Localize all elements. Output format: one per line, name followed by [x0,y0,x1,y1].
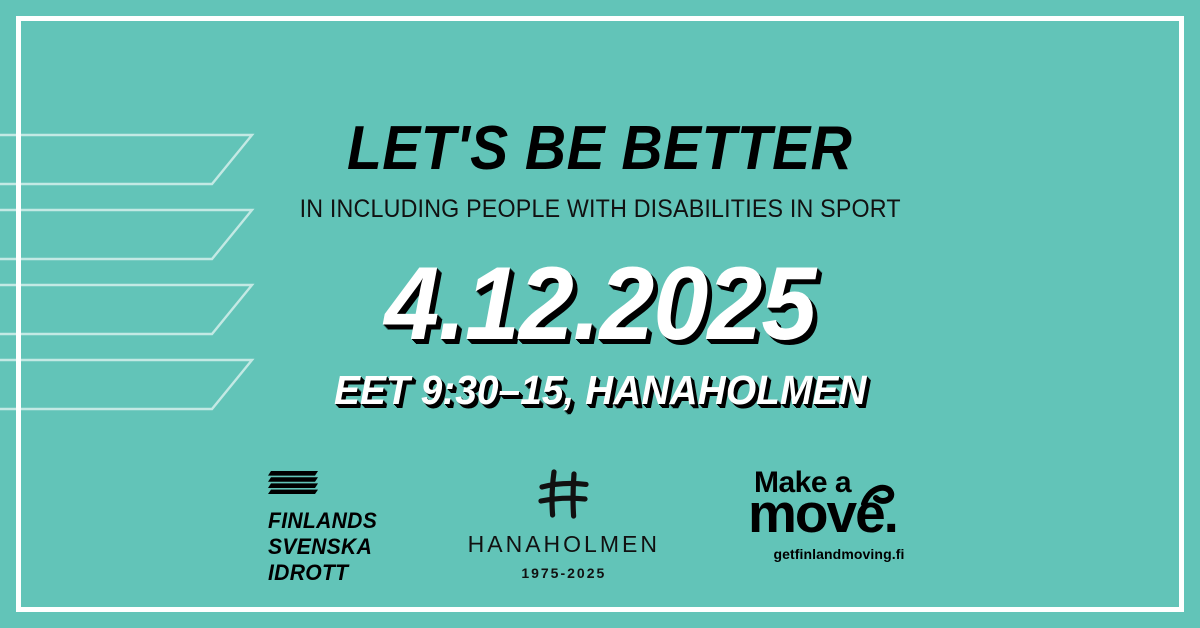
event-poster: LET'S BE BETTER IN INCLUDING PEOPLE WITH… [0,0,1200,628]
poster-headline: LET'S BE BETTER [347,118,852,180]
poster-subtitle: IN INCLUDING PEOPLE WITH DISABILITIES IN… [299,197,900,222]
event-date: 4.12.2025 [384,252,815,356]
poster-content: LET'S BE BETTER IN INCLUDING PEOPLE WITH… [0,0,1200,628]
event-time-and-venue: EET 9:30–15, HANAHOLMEN [334,370,866,411]
